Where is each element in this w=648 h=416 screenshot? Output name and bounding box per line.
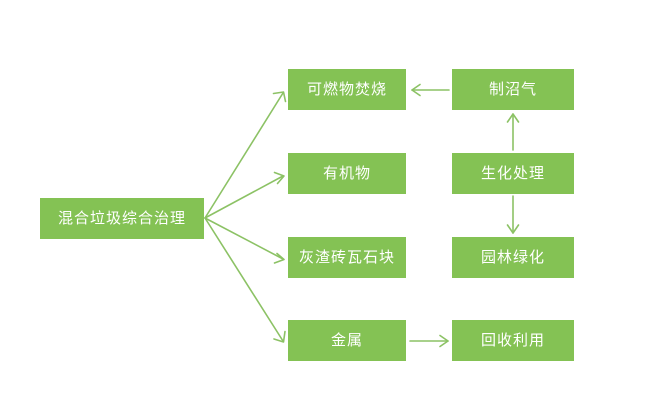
edge-source-to-burn	[205, 92, 286, 218]
node-ash-bricks-tiles-stones[interactable]: 灰渣砖瓦石块	[288, 237, 406, 278]
node-biogas-production-label: 制沼气	[489, 82, 537, 97]
node-combustible-incineration[interactable]: 可燃物焚烧	[288, 69, 406, 110]
node-biochemical-treatment-label: 生化处理	[481, 166, 545, 181]
edge-source-to-organic	[205, 173, 284, 219]
node-recycling-reuse-label: 回收利用	[481, 333, 545, 348]
node-biochemical-treatment[interactable]: 生化处理	[452, 153, 574, 194]
edge-biogas-to-burn	[412, 85, 449, 96]
node-landscaping[interactable]: 园林绿化	[452, 237, 574, 278]
edge-biochem-to-landscape	[508, 196, 519, 233]
flowchart-canvas: 混合垃圾综合治理 可燃物焚烧 有机物 灰渣砖瓦石块 金属 制沼气 生化处理 园林…	[0, 0, 648, 416]
edge-source-to-metal	[205, 218, 285, 342]
edge-metal-to-recycle	[410, 336, 448, 347]
edge-biochem-to-biogas	[508, 114, 519, 150]
node-landscaping-label: 园林绿化	[481, 250, 545, 265]
node-ash-bricks-tiles-stones-label: 灰渣砖瓦石块	[299, 250, 395, 265]
node-source[interactable]: 混合垃圾综合治理	[40, 198, 204, 239]
node-recycling-reuse[interactable]: 回收利用	[452, 320, 574, 361]
node-metal-label: 金属	[331, 333, 363, 348]
node-source-label: 混合垃圾综合治理	[58, 211, 186, 226]
node-biogas-production[interactable]: 制沼气	[452, 69, 574, 110]
node-organic-matter[interactable]: 有机物	[288, 153, 406, 194]
node-metal[interactable]: 金属	[288, 320, 406, 361]
node-combustible-incineration-label: 可燃物焚烧	[307, 82, 387, 97]
edge-source-to-ash	[205, 218, 284, 263]
node-organic-matter-label: 有机物	[323, 166, 371, 181]
